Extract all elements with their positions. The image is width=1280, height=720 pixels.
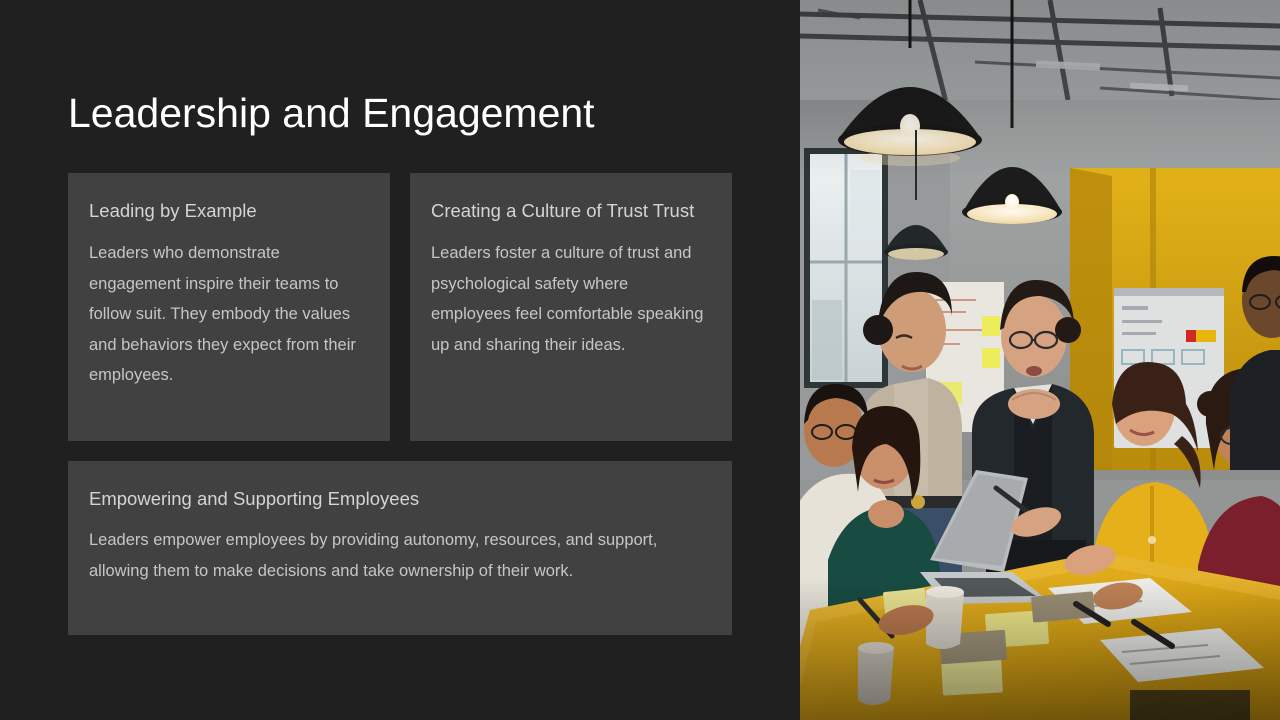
card-body: Leaders foster a culture of trust and ps… [431,238,711,360]
card-body: Leaders empower employees by providing a… [89,525,711,586]
card-heading: Creating a Culture of Trust Trust [431,195,711,226]
page-title: Leadership and Engagement [68,88,768,138]
slide-root: Leadership and Engagement Leading by Exa… [0,0,1280,720]
card-body: Leaders who demonstrate engagement inspi… [89,238,369,391]
meeting-room-photo [800,0,1280,720]
card-creating-a-culture-of-trust: Creating a Culture of Trust Trust Leader… [410,173,732,441]
content-column: Leadership and Engagement Leading by Exa… [0,0,800,720]
photo-illustration [800,0,1280,720]
card-heading: Empowering and Supporting Employees [89,483,711,514]
card-leading-by-example: Leading by Example Leaders who demonstra… [68,173,390,441]
card-heading: Leading by Example [89,195,369,226]
card-empowering-and-supporting-employees: Empowering and Supporting Employees Lead… [68,461,732,635]
